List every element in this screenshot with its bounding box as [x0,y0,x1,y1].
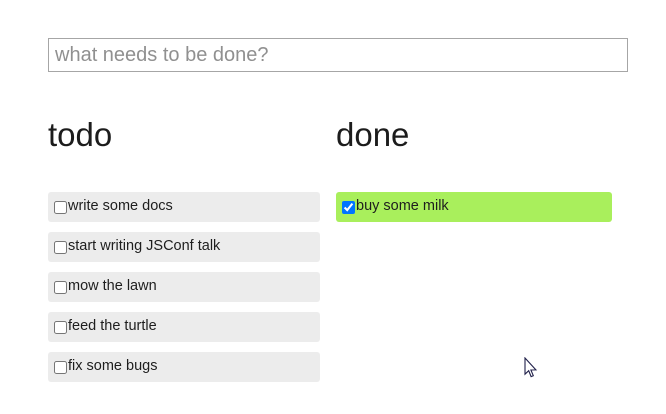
todo-item-checkbox[interactable] [342,201,355,214]
todo-list: write some docsstart writing JSConf talk… [48,192,320,392]
todo-item[interactable]: buy some milk [336,192,612,222]
todo-item-checkbox[interactable] [54,241,67,254]
todo-item-checkbox[interactable] [54,281,67,294]
todo-item-label: fix some bugs [68,359,157,375]
new-todo-field-wrapper [48,38,628,72]
todo-item-checkbox[interactable] [54,321,67,334]
todo-item[interactable]: mow the lawn [48,272,320,302]
todo-item-label: buy some milk [356,199,449,215]
todo-item-label: feed the turtle [68,319,157,335]
done-column-title: done [336,118,612,160]
todo-column-title: todo [48,118,320,160]
todo-item[interactable]: write some docs [48,192,320,222]
todo-item-label: start writing JSConf talk [68,239,220,255]
todo-item[interactable]: start writing JSConf talk [48,232,320,262]
todo-item-label: write some docs [68,199,173,215]
todo-column: todo write some docsstart writing JSConf… [48,118,320,160]
todo-item[interactable]: feed the turtle [48,312,320,342]
done-list: buy some milk [336,192,612,232]
done-column: done buy some milk [336,118,612,160]
arrow-pointer-icon [524,357,538,378]
todo-item-label: mow the lawn [68,279,157,295]
todo-item-checkbox[interactable] [54,201,67,214]
new-todo-input[interactable] [48,38,628,72]
todo-item[interactable]: fix some bugs [48,352,320,382]
todo-item-checkbox[interactable] [54,361,67,374]
